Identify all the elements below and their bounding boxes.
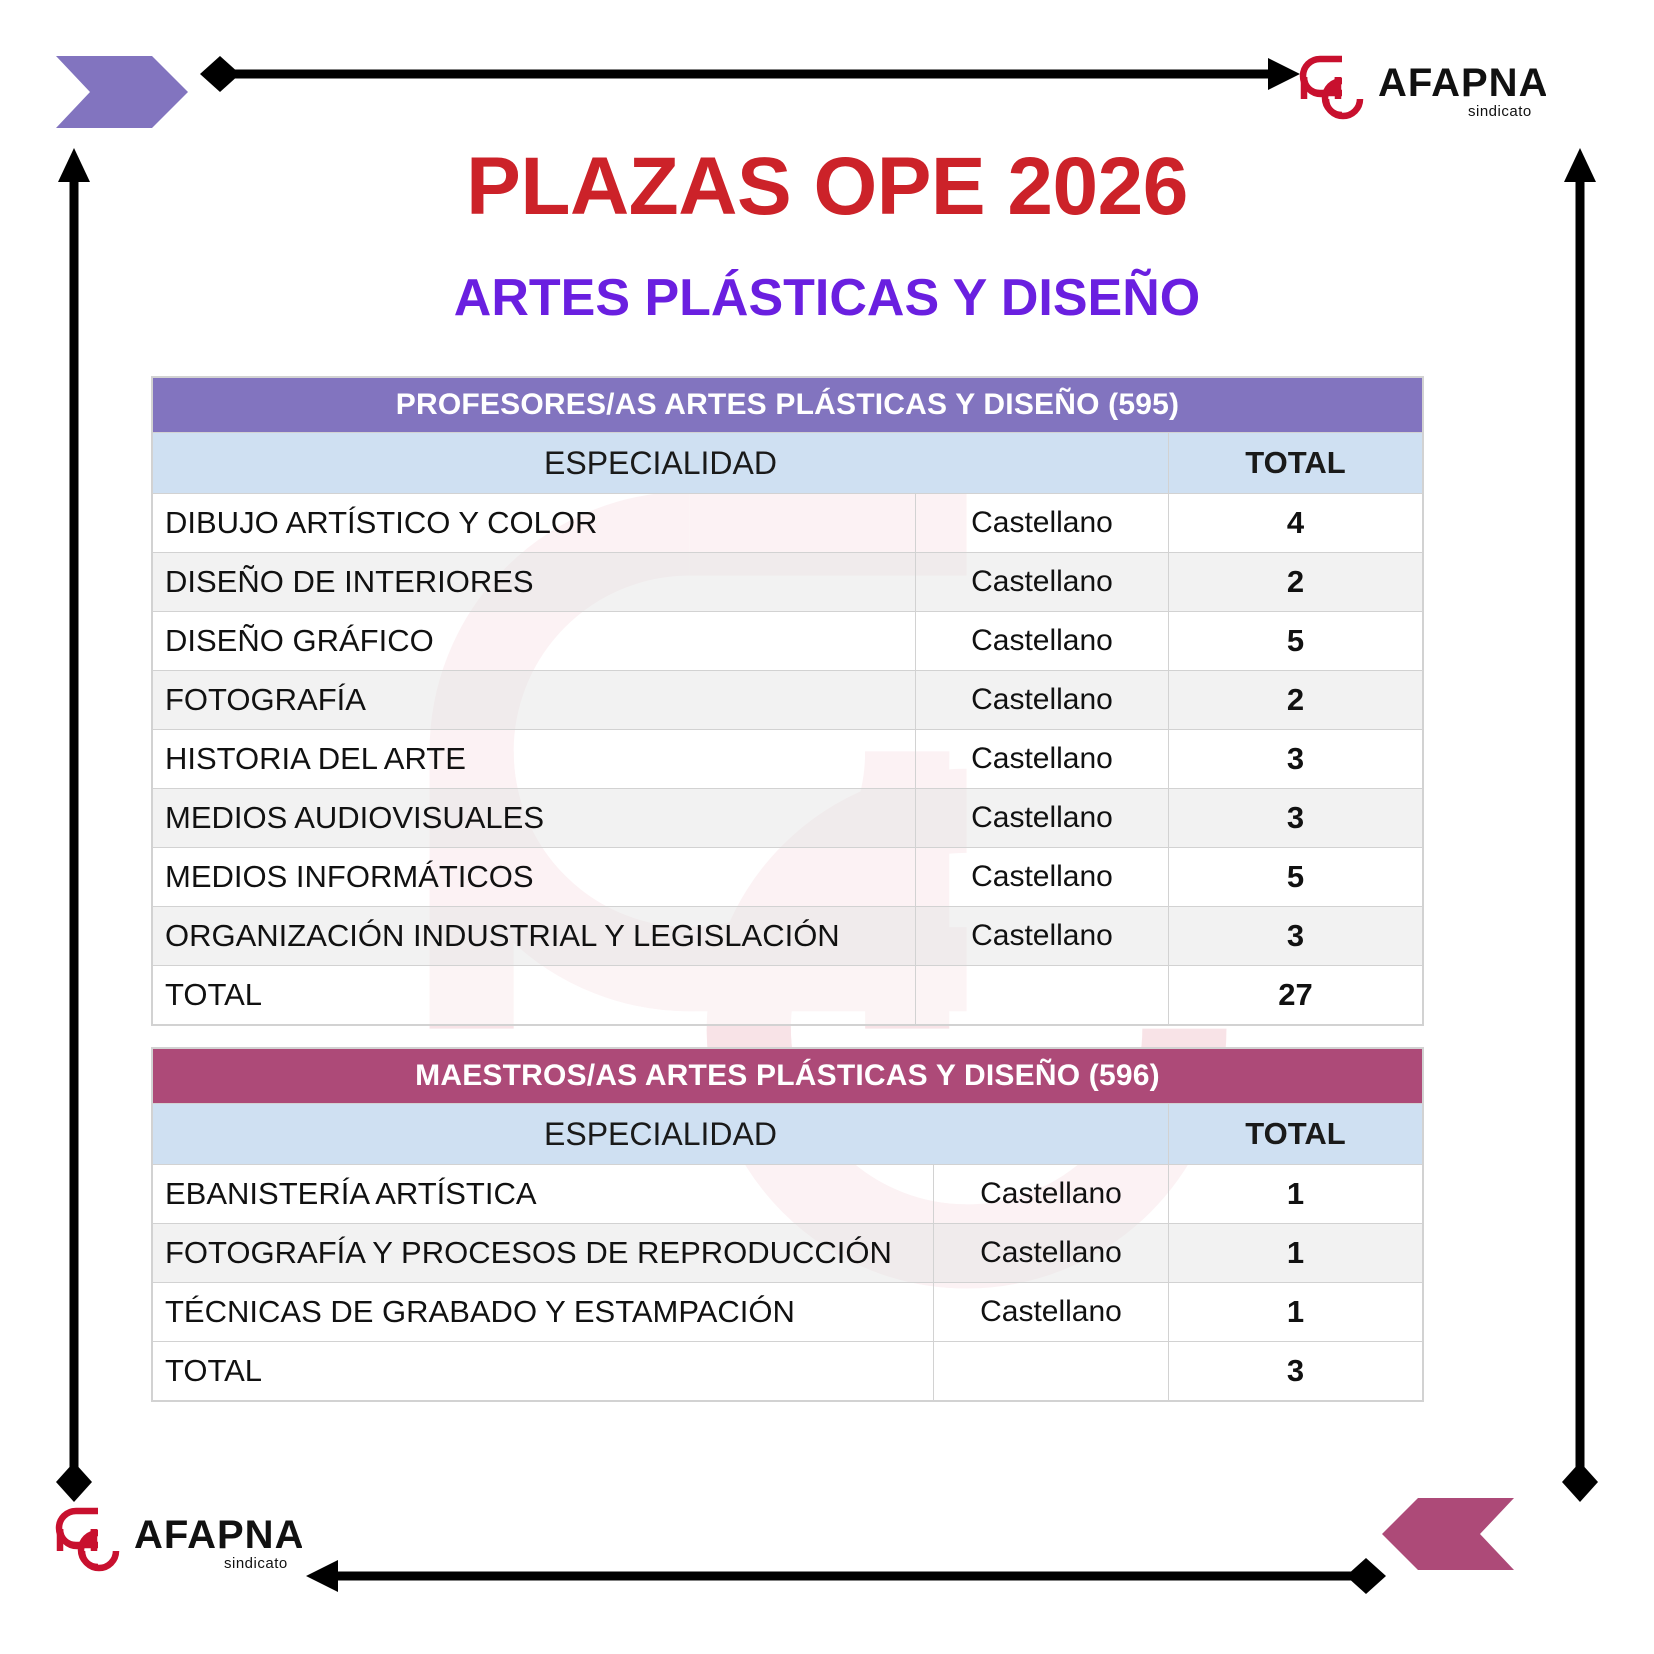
cell-total: 1 [1169,1283,1423,1342]
cell-total: 5 [1169,848,1423,907]
cell-especialidad: DISEÑO GRÁFICO [153,612,916,671]
table-row: EBANISTERÍA ARTÍSTICA Castellano 1 [153,1165,1423,1224]
cell-especialidad: HISTORIA DEL ARTE [153,730,916,789]
svg-text:sindicato: sindicato [1468,103,1532,120]
cell-idioma: Castellano [916,907,1169,966]
cell-especialidad: ORGANIZACIÓN INDUSTRIAL Y LEGISLACIÓN [153,907,916,966]
cell-especialidad: MEDIOS AUDIOVISUALES [153,789,916,848]
cell-idioma: Castellano [916,848,1169,907]
page-title: PLAZAS OPE 2026 [0,140,1654,234]
table-banner-row: MAESTROS/AS ARTES PLÁSTICAS Y DISEÑO (59… [153,1049,1423,1104]
cell-total: 3 [1169,789,1423,848]
profesores-grid: PROFESORES/AS ARTES PLÁSTICAS Y DISEÑO (… [152,377,1423,1025]
column-header-total: TOTAL [1169,433,1423,494]
chevron-bottom-right [1382,1498,1514,1570]
cell-idioma: Castellano [934,1165,1169,1224]
table-column-header-row: ESPECIALIDAD TOTAL [153,433,1423,494]
cell-especialidad: EBANISTERÍA ARTÍSTICA [153,1165,934,1224]
maestros-grid: MAESTROS/AS ARTES PLÁSTICAS Y DISEÑO (59… [152,1048,1423,1401]
table-profesores: PROFESORES/AS ARTES PLÁSTICAS Y DISEÑO (… [152,377,1422,1025]
column-header-especialidad: ESPECIALIDAD [153,433,1169,494]
chevron-top-left [56,56,188,128]
footer-label: TOTAL [153,966,916,1025]
footer-idioma [934,1342,1169,1401]
footer-total: 3 [1169,1342,1423,1401]
cell-total: 1 [1169,1224,1423,1283]
cell-idioma: Castellano [934,1224,1169,1283]
cell-total: 1 [1169,1165,1423,1224]
table-row: FOTOGRAFÍA Y PROCESOS DE REPRODUCCIÓN Ca… [153,1224,1423,1283]
table-row: DISEÑO DE INTERIORES Castellano 2 [153,553,1423,612]
cell-total: 5 [1169,612,1423,671]
cell-idioma: Castellano [916,612,1169,671]
cell-especialidad: MEDIOS INFORMÁTICOS [153,848,916,907]
cell-total: 2 [1169,671,1423,730]
table-row: TÉCNICAS DE GRABADO Y ESTAMPACIÓN Castel… [153,1283,1423,1342]
cell-idioma: Castellano [916,789,1169,848]
cell-idioma: Castellano [934,1283,1169,1342]
table-row: DIBUJO ARTÍSTICO Y COLOR Castellano 4 [153,494,1423,553]
table-row: FOTOGRAFÍA Castellano 2 [153,671,1423,730]
svg-text:AFAPNA: AFAPNA [1378,61,1546,105]
footer-idioma [916,966,1169,1025]
table-banner: MAESTROS/AS ARTES PLÁSTICAS Y DISEÑO (59… [153,1049,1423,1104]
cell-especialidad: FOTOGRAFÍA [153,671,916,730]
cell-idioma: Castellano [916,494,1169,553]
afapna-logo-bottom: AFAPNA sindicato [52,1500,302,1576]
cell-especialidad: FOTOGRAFÍA Y PROCESOS DE REPRODUCCIÓN [153,1224,934,1283]
table-footer-row: TOTAL 27 [153,966,1423,1025]
cell-total: 3 [1169,907,1423,966]
cell-idioma: Castellano [916,671,1169,730]
table-row: MEDIOS INFORMÁTICOS Castellano 5 [153,848,1423,907]
table-banner-row: PROFESORES/AS ARTES PLÁSTICAS Y DISEÑO (… [153,378,1423,433]
column-header-especialidad: ESPECIALIDAD [153,1104,1169,1165]
afapna-logo-top: AFAPNA sindicato [1296,48,1546,124]
cell-idioma: Castellano [916,553,1169,612]
table-row: ORGANIZACIÓN INDUSTRIAL Y LEGISLACIÓN Ca… [153,907,1423,966]
svg-text:sindicato: sindicato [224,1555,288,1572]
cell-total: 4 [1169,494,1423,553]
footer-total: 27 [1169,966,1423,1025]
cell-total: 3 [1169,730,1423,789]
cell-especialidad: DIBUJO ARTÍSTICO Y COLOR [153,494,916,553]
table-row: HISTORIA DEL ARTE Castellano 3 [153,730,1423,789]
page-subtitle: ARTES PLÁSTICAS Y DISEÑO [0,268,1654,328]
table-row: MEDIOS AUDIOVISUALES Castellano 3 [153,789,1423,848]
column-header-total: TOTAL [1169,1104,1423,1165]
cell-idioma: Castellano [916,730,1169,789]
table-column-header-row: ESPECIALIDAD TOTAL [153,1104,1423,1165]
footer-label: TOTAL [153,1342,934,1401]
table-banner: PROFESORES/AS ARTES PLÁSTICAS Y DISEÑO (… [153,378,1423,433]
cell-especialidad: DISEÑO DE INTERIORES [153,553,916,612]
svg-text:AFAPNA: AFAPNA [134,1513,302,1557]
cell-total: 2 [1169,553,1423,612]
cell-especialidad: TÉCNICAS DE GRABADO Y ESTAMPACIÓN [153,1283,934,1342]
table-footer-row: TOTAL 3 [153,1342,1423,1401]
table-row: DISEÑO GRÁFICO Castellano 5 [153,612,1423,671]
table-maestros: MAESTROS/AS ARTES PLÁSTICAS Y DISEÑO (59… [152,1048,1422,1401]
